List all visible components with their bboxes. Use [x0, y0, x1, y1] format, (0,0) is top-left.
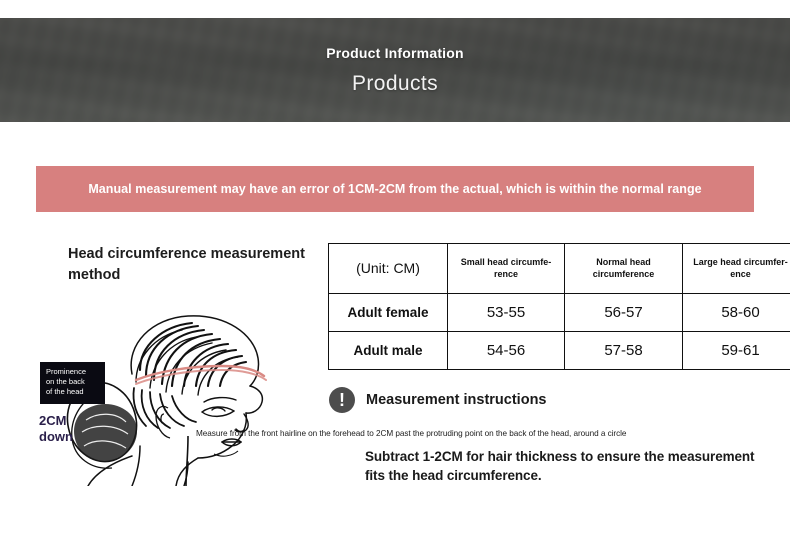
head-measurement-illustration: Prominence on the back of the head 2CMdo… [36, 296, 328, 486]
illustration-caption: Measure from the front hairline on the f… [196, 429, 756, 438]
callout-line-1: Prominence [46, 367, 100, 377]
table-row: Adult male 54-56 57-58 59-61 [329, 332, 790, 370]
measurement-error-notice: Manual measurement may have an error of … [36, 166, 754, 212]
notice-text: Manual measurement may have an error of … [88, 182, 701, 196]
method-heading: Head circumference measurement method [68, 244, 318, 286]
cell-male-large: 59-61 [683, 332, 790, 370]
cell-male-normal: 57-58 [565, 332, 683, 370]
hero-text-group: Product Information Products [0, 18, 790, 122]
cell-female-small: 53-55 [448, 294, 565, 332]
instructions-body: Subtract 1-2CM for hair thickness to ens… [365, 447, 765, 485]
two-cm-down-label: 2CMdown [39, 413, 105, 446]
table-header-normal: Normal head circumference [565, 244, 683, 294]
measurement-method-panel: Head circumference measurement method [36, 240, 328, 486]
back-of-head-callout: Prominence on the back of the head [40, 362, 105, 404]
row-label-adult-male: Adult male [329, 332, 448, 370]
table-header-large: Large head circumfer-ence [683, 244, 790, 294]
row-label-adult-female: Adult female [329, 294, 448, 332]
hero-kicker: Product Information [326, 45, 464, 61]
table-header-small: Small head circumfe-rence [448, 244, 565, 294]
cell-female-normal: 56-57 [565, 294, 683, 332]
measurement-instructions-header: ! Measurement instructions [329, 387, 547, 413]
table-header-row: (Unit: CM) Small head circumfe-rence Nor… [329, 244, 790, 294]
head-circumference-table: (Unit: CM) Small head circumfe-rence Nor… [328, 243, 790, 370]
callout-line-3: of the head [46, 387, 100, 397]
cell-female-large: 58-60 [683, 294, 790, 332]
hero-banner: Product Information Products [0, 18, 790, 122]
callout-line-2: on the back [46, 377, 100, 387]
exclamation-icon: ! [329, 387, 355, 413]
table-header-unit: (Unit: CM) [329, 244, 448, 294]
cell-male-small: 54-56 [448, 332, 565, 370]
hero-title: Products [352, 72, 438, 96]
instructions-title: Measurement instructions [366, 392, 547, 408]
table-row: Adult female 53-55 56-57 58-60 [329, 294, 790, 332]
